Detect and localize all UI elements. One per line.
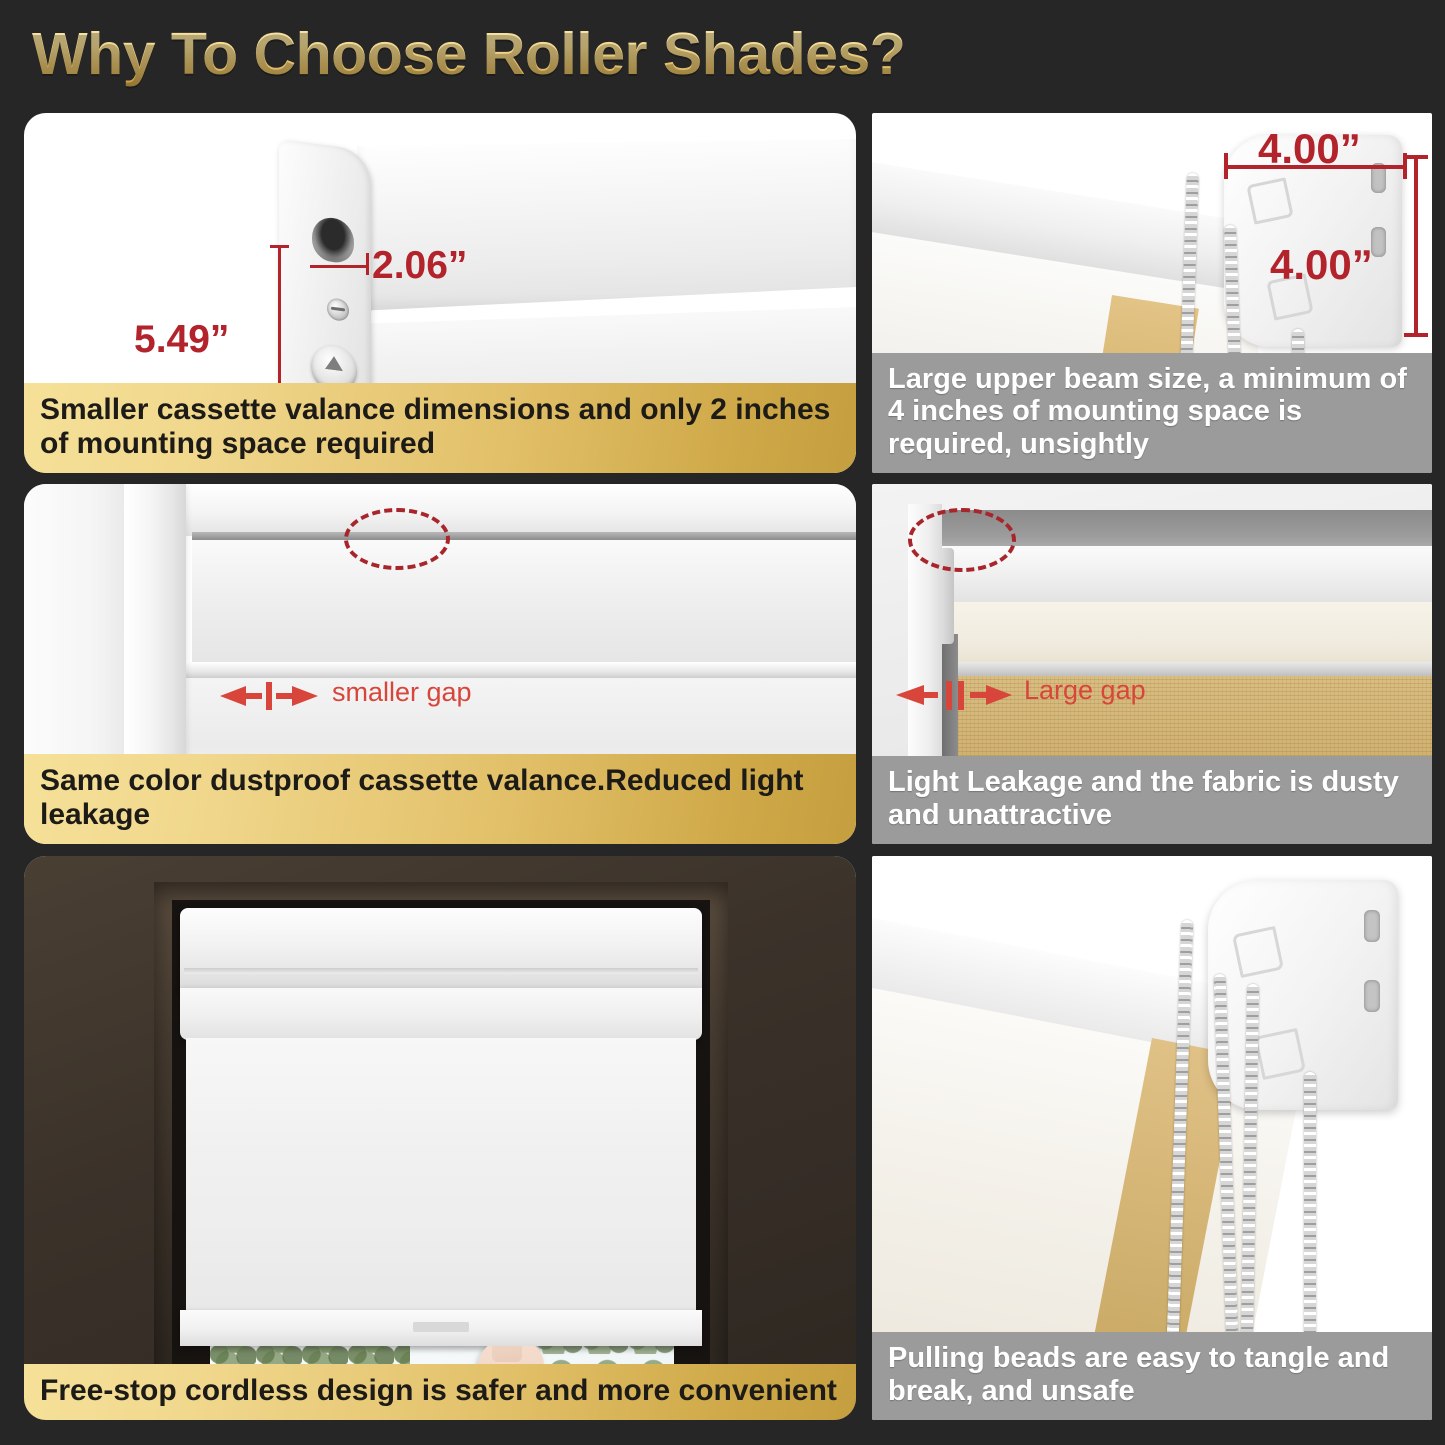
panel-caption-pro-1: Smaller cassette valance dimensions and … — [24, 383, 856, 473]
infographic-root: Why To Choose Roller Shades? 5.49” 2.06” — [0, 0, 1445, 1445]
bracket-slot-icon — [1364, 980, 1380, 1012]
highlight-ellipse-icon — [344, 508, 450, 570]
dimension-tick-width-left — [1224, 153, 1228, 179]
cassette-valance-illustration — [279, 135, 856, 425]
dimension-line-width — [310, 265, 368, 268]
gap-arrow-icons — [220, 680, 332, 712]
gap-label-large: Large gap — [1024, 675, 1146, 706]
panel-large-beam: 4.00” 4.00” Large upper beam size, a min… — [872, 113, 1432, 473]
bracket-logo-icon — [1254, 1028, 1306, 1080]
panel-caption-con-3: Pulling beads are easy to tangle and bre… — [872, 1332, 1432, 1420]
cassette-headrail-lower — [180, 988, 702, 1040]
highlight-ellipse-icon — [908, 508, 1016, 572]
bracket-slot-icon — [1364, 910, 1380, 942]
gap-label-smaller: smaller gap — [332, 677, 472, 708]
window-frame-top — [124, 484, 856, 536]
panel-dustproof-valance: smaller gap Same color dustproof cassett… — [24, 484, 856, 844]
panel-caption-pro-3: Free-stop cordless design is safer and m… — [24, 1364, 856, 1420]
shade-fabric-body — [186, 1038, 696, 1320]
panel-pulling-beads: Pulling beads are easy to tangle and bre… — [872, 856, 1432, 1420]
dimension-line-height — [1414, 155, 1418, 337]
bracket-logo-icon — [1246, 177, 1293, 224]
page-title-text: Why To Choose Roller Shades? — [32, 20, 905, 88]
shade-metal-rail — [950, 662, 1432, 676]
bracket-logo-icon — [1232, 926, 1284, 978]
panel-caption-con-1: Large upper beam size, a minimum of 4 in… — [872, 353, 1432, 473]
panel-cordless-design: Free-stop cordless design is safer and m… — [24, 856, 856, 1420]
dimension-tick-height-top — [270, 245, 289, 248]
panel-cassette-dimensions: 5.49” 2.06” Smaller cassette valance dim… — [24, 113, 856, 473]
valance-trim-line — [192, 532, 856, 540]
dimension-tick-width-right — [366, 253, 369, 275]
cordless-window-photo — [24, 856, 856, 1420]
screw-icon — [327, 297, 349, 322]
cassette-headrail — [180, 908, 702, 994]
valance-end-cap — [279, 139, 371, 405]
roller-tube-white — [942, 546, 1432, 608]
dimension-label-width: 4.00” — [1258, 125, 1361, 173]
dimension-label-height: 5.49” — [134, 318, 229, 362]
panel-caption-pro-2: Same color dustproof cassette valance.Re… — [24, 754, 856, 844]
valance-fabric-upper — [192, 540, 856, 662]
dimension-label-width: 2.06” — [372, 244, 467, 288]
valance-mid-rail — [174, 662, 856, 678]
page-title: Why To Choose Roller Shades? — [0, 0, 1445, 108]
bead-chain — [1304, 1072, 1316, 1342]
shade-fabric-cream — [950, 602, 1432, 666]
gap-arrow-icons — [896, 678, 1026, 712]
mounting-bracket — [1208, 880, 1398, 1110]
dimension-tick-height-top — [1404, 155, 1428, 159]
shade-bottom-rail — [180, 1310, 702, 1346]
bottom-rail-grip — [413, 1322, 469, 1332]
panel-caption-con-2: Light Leakage and the fabric is dusty an… — [872, 756, 1432, 844]
dimension-label-height: 4.00” — [1270, 241, 1373, 289]
panel-light-leakage: Large gap Light Leakage and the fabric i… — [872, 484, 1432, 844]
dimension-tick-height-bottom — [1404, 333, 1428, 337]
bracket-slot-icon — [1371, 227, 1386, 257]
